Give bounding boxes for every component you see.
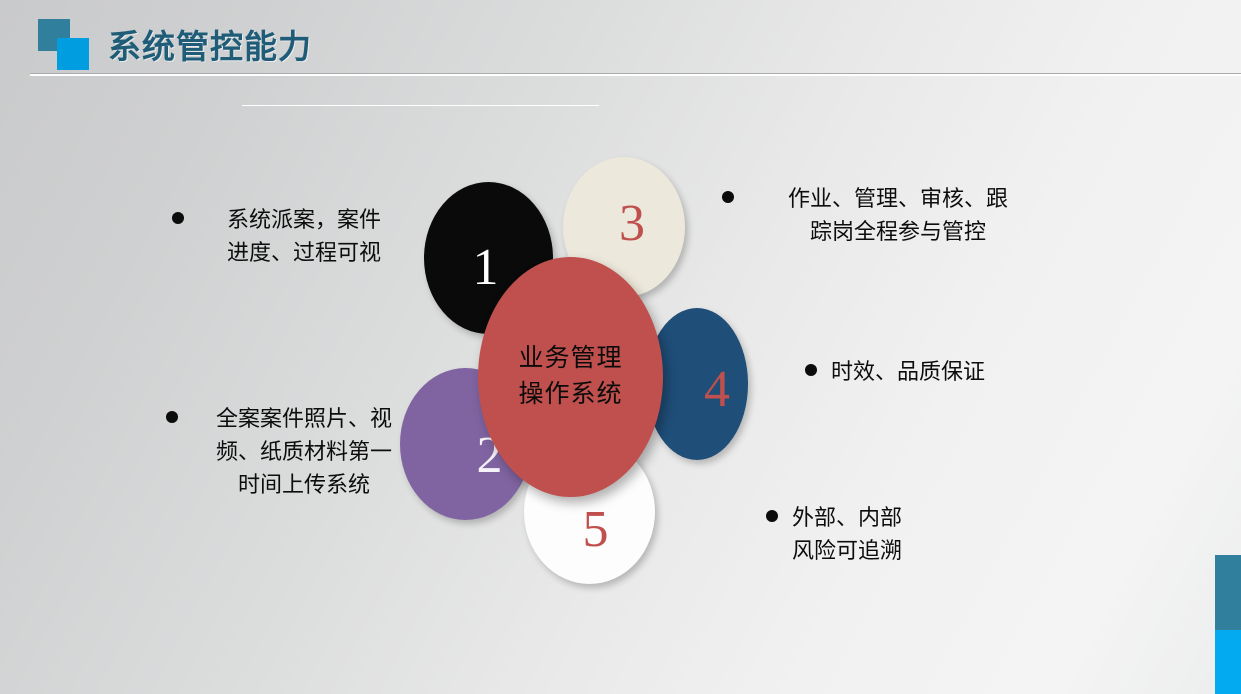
edge-accent-block-blue: [1215, 630, 1241, 694]
callout-system-dispatch: 系统派案，案件 进度、过程可视: [172, 203, 412, 269]
callout-5-text: 外部、内部 风险可追溯: [792, 501, 902, 567]
petal-4-number: 4: [704, 364, 730, 416]
petal-1-number: 1: [473, 242, 499, 294]
center-hub-label: 业务管理 操作系统: [518, 341, 622, 414]
callout-4-text: 时效、品质保证: [831, 355, 985, 388]
callout-1-text: 系统派案，案件 进度、过程可视: [198, 203, 410, 269]
petal-3-number: 3: [619, 198, 645, 250]
bullet-dot-icon: [805, 364, 817, 376]
petal-5-number: 5: [583, 504, 609, 556]
bullet-dot-icon: [722, 191, 734, 203]
center-hub[interactable]: 业务管理 操作系统: [478, 257, 663, 497]
callout-media-upload: 全案案件照片、视 频、纸质材料第一 时间上传系统: [166, 402, 418, 501]
petal-diagram: 1 2 3 4 5 业务管理 操作系统 系统派案，案件 进度、过程可视 全案案件…: [0, 0, 1241, 694]
callout-2-text: 全案案件照片、视 频、纸质材料第一 时间上传系统: [192, 402, 416, 501]
edge-accent-block-teal: [1215, 555, 1241, 630]
callout-3-text: 作业、管理、审核、跟 踪岗全程参与管控: [748, 182, 1048, 248]
bullet-dot-icon: [172, 212, 184, 224]
callout-quality-guarantee: 时效、品质保证: [805, 355, 1055, 388]
bullet-dot-icon: [766, 510, 778, 522]
callout-role-participation: 作业、管理、审核、跟 踪岗全程参与管控: [722, 182, 1052, 248]
bullet-dot-icon: [166, 411, 178, 423]
slide-canvas: 系统管控能力 1 2 3 4 5 业务管理 操作系统 系统派案，案件 进度、过程…: [0, 0, 1241, 694]
callout-risk-traceability: 外部、内部 风险可追溯: [766, 501, 986, 567]
